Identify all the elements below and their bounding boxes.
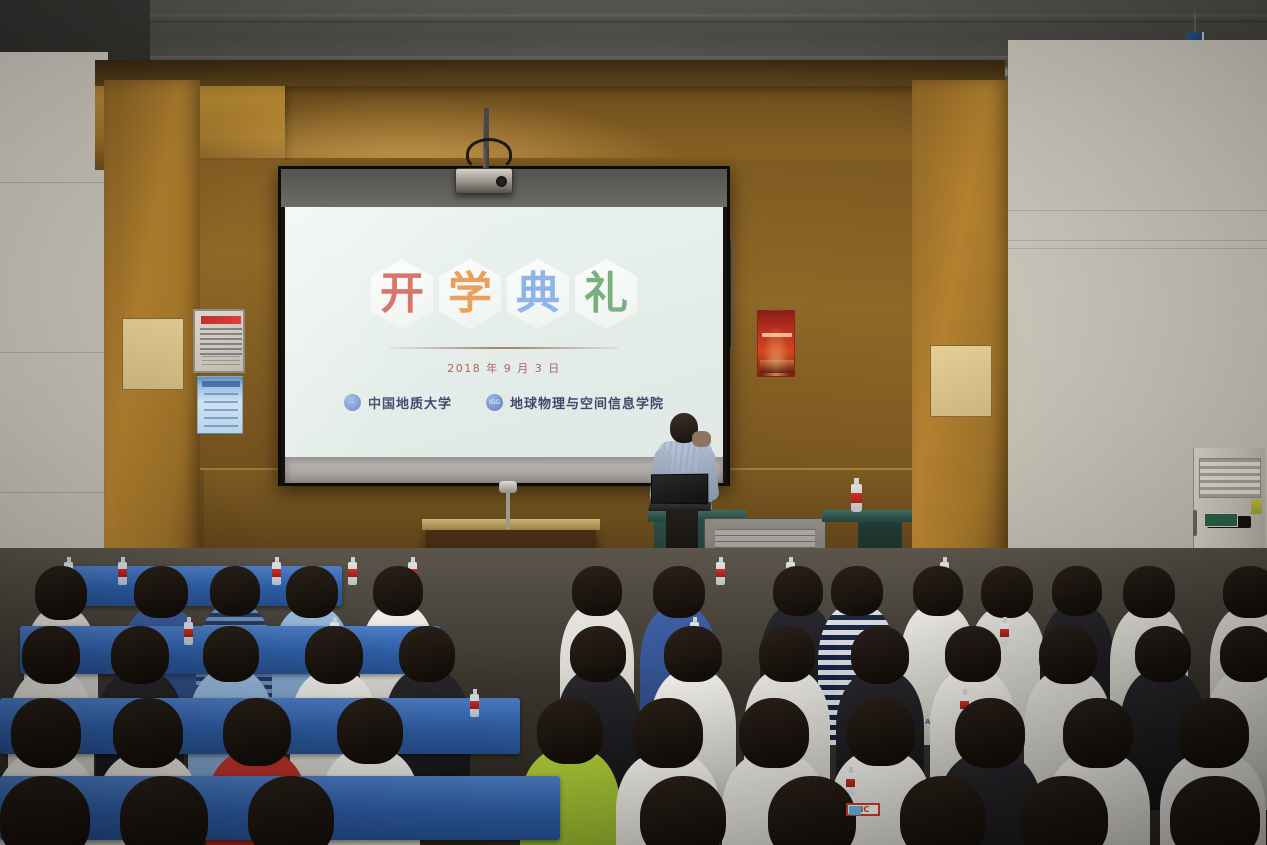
presenter-face — [692, 431, 711, 447]
red-propaganda-poster — [757, 310, 795, 377]
slide-logos: — 中国地质大学 IGG 地球物理与空间信息学院 — [285, 393, 723, 412]
audience-member — [100, 776, 228, 845]
presenter-head — [670, 413, 698, 443]
audience-head — [113, 698, 183, 768]
tshirt-logo: A — [925, 718, 930, 726]
green-wall-sign — [1204, 513, 1238, 527]
audience-head — [739, 698, 809, 768]
projector-lens-icon — [496, 176, 507, 187]
audience-member — [228, 776, 354, 845]
audience-head — [1223, 566, 1267, 618]
audience-head — [120, 776, 208, 845]
audience-head — [286, 566, 338, 618]
audience-area: NCA — [0, 548, 1267, 845]
water-bottle — [470, 694, 479, 717]
notice-header-band — [201, 316, 241, 324]
title-hex-4: 礼 — [575, 259, 637, 329]
audience-head — [633, 698, 703, 768]
tshirt-badge: NC — [846, 803, 880, 816]
audience-member — [1000, 776, 1128, 845]
ac-door-handle[interactable] — [1193, 510, 1197, 536]
audience-head — [399, 626, 455, 682]
title-hex-2: 学 — [439, 259, 501, 329]
audience-head — [664, 626, 722, 682]
university-logo-icon: — — [344, 394, 361, 411]
lecture-hall-photo: 开 学 典 礼 2018 年 9 月 3 日 — — [0, 0, 1267, 845]
audience-head — [1039, 626, 1097, 684]
lectern-top-surface — [422, 519, 600, 530]
soffit-uplight-glow — [130, 96, 690, 158]
audience-head — [572, 566, 622, 616]
audience-head — [373, 566, 423, 616]
audience-member — [0, 776, 110, 845]
audience-head — [913, 566, 963, 616]
podium-desk-right — [822, 510, 912, 522]
soffit-shadow — [95, 60, 1005, 86]
audience-head — [337, 698, 403, 764]
audience-head — [35, 566, 87, 620]
hanging-wire — [1194, 12, 1196, 34]
audience-head — [1177, 698, 1249, 768]
audience-head — [570, 626, 626, 682]
audience-head — [248, 776, 334, 845]
blue-wall-poster — [197, 376, 243, 434]
audience-head — [847, 698, 915, 766]
pillar-panel-right — [930, 345, 992, 417]
school-logo-icon: IGG — [486, 394, 503, 411]
ac-sticker-icon — [1251, 500, 1262, 514]
audience-head — [653, 566, 705, 618]
presenter-laptop-screen — [651, 474, 708, 505]
title-char-3: 典 — [516, 272, 560, 316]
audience-head — [768, 776, 856, 845]
ac-vent-grille — [1199, 458, 1261, 498]
left-wall — [0, 52, 108, 612]
audience-head — [955, 698, 1025, 768]
microphone-icon — [499, 481, 517, 493]
wood-pillar-left — [104, 80, 200, 610]
audience-head — [945, 626, 1001, 682]
title-hex-1: 开 — [371, 259, 433, 329]
audience-head — [831, 566, 883, 616]
audience-head — [0, 776, 90, 845]
audience-head — [1020, 776, 1108, 845]
microphone-stand — [506, 489, 510, 529]
title-char-1: 开 — [380, 272, 424, 316]
audience-head — [1170, 776, 1260, 845]
audience-head — [773, 566, 823, 616]
audience-head — [223, 698, 291, 766]
notice-footer-text — [202, 356, 240, 366]
title-char-2: 学 — [448, 272, 492, 316]
water-bottle-podium — [851, 484, 862, 512]
audience-head — [111, 626, 169, 684]
audience-head — [981, 566, 1033, 618]
audience-head — [1063, 698, 1133, 768]
audience-head — [210, 566, 260, 616]
slide-date: 2018 年 9 月 3 日 — [285, 360, 723, 376]
slide-divider-rule — [390, 347, 618, 349]
audience-member — [1150, 776, 1267, 845]
audience-head — [1220, 626, 1267, 682]
audience-head — [11, 698, 81, 768]
audience-head — [1135, 626, 1191, 682]
audience-member — [620, 776, 746, 845]
pillar-panel-left — [122, 318, 184, 390]
audience-head — [759, 626, 815, 682]
logo-group-university: — 中国地质大学 — [344, 393, 452, 412]
audience-head — [1052, 566, 1102, 616]
title-hex-3: 典 — [507, 259, 569, 329]
slide-title: 开 学 典 礼 — [285, 259, 723, 329]
ceiling-projector — [455, 168, 513, 194]
audience-head — [640, 776, 726, 845]
projector-cable — [466, 138, 512, 170]
audience-head — [537, 698, 603, 764]
title-char-4: 礼 — [584, 272, 628, 316]
audience-head — [851, 626, 909, 684]
audience-member — [880, 776, 1006, 845]
notice-text-lines — [200, 328, 242, 358]
school-name: 地球物理与空间信息学院 — [510, 393, 664, 412]
audience-head — [305, 626, 363, 684]
university-name: 中国地质大学 — [368, 393, 452, 412]
wood-pillar-right — [912, 80, 1008, 610]
notice-board-framed — [193, 309, 245, 373]
logo-group-school: IGG 地球物理与空间信息学院 — [486, 393, 664, 412]
audience-head — [203, 626, 259, 682]
audience-head — [134, 566, 188, 618]
audience-head — [1123, 566, 1175, 618]
audience-head — [22, 626, 80, 684]
audience-head — [900, 776, 986, 845]
